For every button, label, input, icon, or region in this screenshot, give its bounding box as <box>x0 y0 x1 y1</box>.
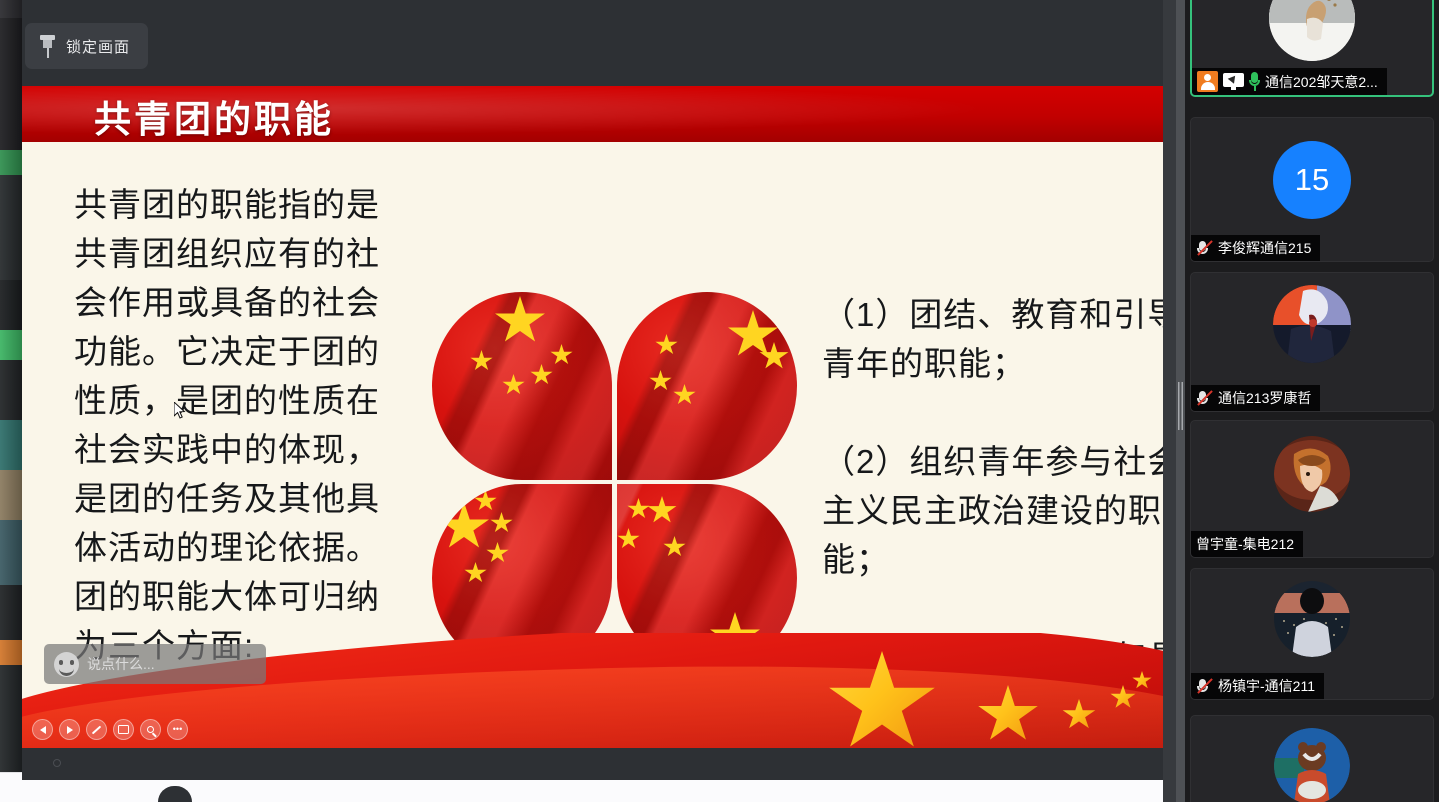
panel-splitter[interactable] <box>1176 0 1185 802</box>
flag-petal-top-right <box>617 292 797 480</box>
participant-tile[interactable]: 15 李俊辉通信215 <box>1190 117 1434 262</box>
chat-input-placeholder: 说点什么... <box>87 654 155 674</box>
emoji-smile-icon[interactable] <box>54 652 79 677</box>
status-dot-icon <box>53 759 61 767</box>
participant-name: 杨镇宇-通信211 <box>1218 676 1315 696</box>
participant-tile[interactable]: 通信202邹天意2... <box>1190 0 1434 97</box>
triangle-right-icon <box>67 726 73 734</box>
triangle-left-icon <box>40 726 46 734</box>
mic-off-icon <box>1196 390 1213 407</box>
next-slide-button[interactable] <box>59 719 80 740</box>
pin-icon <box>39 35 56 58</box>
more-options-button[interactable]: ••• <box>167 719 188 740</box>
participant-tile[interactable]: 通信213罗康哲 <box>1190 272 1434 412</box>
participant-name-bar: 曾宇童-集电212 <box>1191 531 1303 557</box>
frame-icon <box>118 725 129 734</box>
participant-name: 通信213罗康哲 <box>1218 388 1311 408</box>
taskbar-app-icon[interactable] <box>158 786 192 802</box>
avatar <box>1274 436 1350 512</box>
slide-right-item-1: （1）团结、教育和引导青年的职能； <box>822 290 1185 388</box>
participant-name-bar: 李俊辉通信215 <box>1191 235 1320 261</box>
lock-screen-label: 锁定画面 <box>66 36 130 57</box>
slide-right-item-2: （2）组织青年参与社会主义民主政治建设的职能； <box>822 437 1185 584</box>
participant-name: 曾宇童-集电212 <box>1196 534 1294 554</box>
participants-panel[interactable]: 通信202邹天意2... 15 李俊辉通信215 <box>1185 0 1439 802</box>
slide-title: 共青团的职能 <box>94 89 334 143</box>
share-window-bottom-bar <box>22 748 1185 780</box>
frame-capture-button[interactable] <box>113 719 134 740</box>
participant-tile[interactable]: 曾宇童-集电212 <box>1190 420 1434 558</box>
lock-screen-button[interactable]: 锁定画面 <box>25 23 148 69</box>
participant-name: 李俊辉通信215 <box>1218 238 1311 258</box>
prev-slide-button[interactable] <box>32 719 53 740</box>
participant-name: 通信202邹天意2... <box>1265 72 1378 92</box>
host-icon <box>1197 71 1218 92</box>
avatar <box>1273 285 1351 363</box>
mouse-cursor <box>174 402 186 420</box>
participant-name-bar: 通信213罗康哲 <box>1191 385 1320 411</box>
pen-icon <box>92 725 102 734</box>
participant-name-bar: 杨镇宇-通信211 <box>1191 673 1324 699</box>
screen-share-icon <box>1223 73 1244 91</box>
participant-name-bar: 通信202邹天意2... <box>1192 68 1387 95</box>
panel-gutter <box>1163 0 1176 802</box>
avatar-initial-circle: 15 <box>1273 141 1351 219</box>
magnifier-icon <box>147 726 154 733</box>
background-app-strip[interactable] <box>0 0 22 780</box>
slide-left-paragraph: 共青团的职能指的是共青团组织应有的社会作用或具备的社会功能。它决定于团的性质，是… <box>74 180 404 670</box>
mic-off-icon <box>1196 240 1213 257</box>
screen-root: 锁定画面 共青团的职能 共青团的职能指的是共青团组织应有的社会作用或具备的社会功… <box>0 0 1439 802</box>
participant-tile[interactable]: 杨镇宇-通信211 <box>1190 568 1434 700</box>
slide-mini-toolbar: ••• <box>32 719 188 740</box>
ellipsis-icon: ••• <box>173 725 182 734</box>
mic-on-icon <box>1249 72 1260 91</box>
avatar <box>1274 581 1350 657</box>
flag-petal-top-left <box>432 292 612 480</box>
annotate-pen-button[interactable] <box>86 719 107 740</box>
share-window-topbar: 锁定画面 <box>22 0 1185 86</box>
mic-off-icon <box>1196 678 1213 695</box>
chat-input[interactable]: 说点什么... <box>44 644 266 684</box>
shared-screen-window: 锁定画面 共青团的职能 共青团的职能指的是共青团组织应有的社会作用或具备的社会功… <box>22 0 1185 780</box>
participant-tile[interactable] <box>1190 715 1434 802</box>
avatar <box>1269 0 1355 61</box>
zoom-button[interactable] <box>140 719 161 740</box>
splitter-grip-icon <box>1178 382 1183 430</box>
flag-flower-image <box>432 292 797 672</box>
avatar <box>1274 728 1350 802</box>
